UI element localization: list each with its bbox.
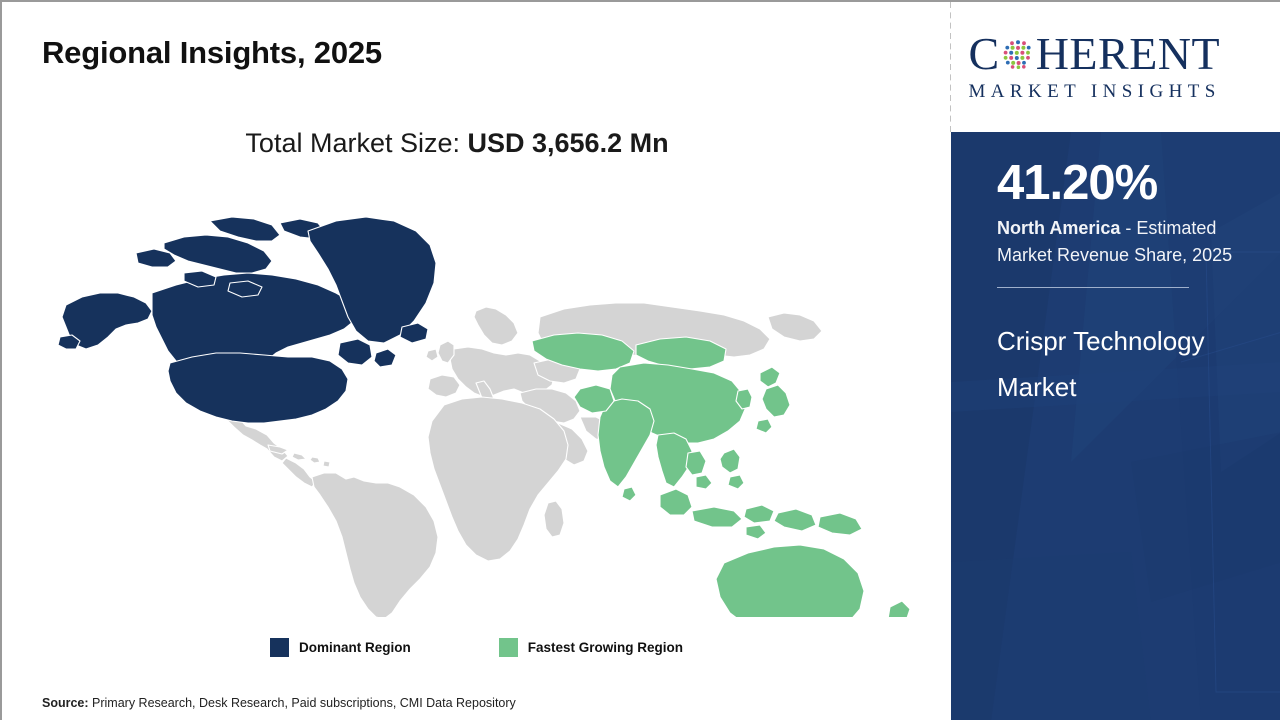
world-map-container [24,177,924,617]
stat-panel: 41.20% North America - Estimated Market … [951,132,1280,720]
logo-wordmark: C [969,31,1265,77]
total-market-size: Total Market Size: USD 3,656.2 Mn [2,128,912,159]
total-market-size-value: USD 3,656.2 Mn [468,128,669,158]
brand-logo: C [951,2,1280,132]
stat-divider-line [997,287,1189,288]
legend-label-dominant: Dominant Region [299,640,411,655]
square-swatch-icon [270,638,289,657]
map-region-asia-pacific [532,333,920,617]
legend-label-fastest-growing: Fastest Growing Region [528,640,683,655]
market-name: Crispr Technology Market [997,318,1262,410]
stat-region-name: North America [997,218,1120,238]
stat-caption: North America - Estimated Market Revenue… [997,215,1262,269]
main-content-area: Regional Insights, 2025 Total Market Siz… [2,2,951,720]
total-market-size-label: Total Market Size: [245,128,467,158]
legend-item-dominant: Dominant Region [270,638,411,657]
logo-subtitle: MARKET INSIGHTS [969,81,1265,103]
source-text: Primary Research, Desk Research, Paid su… [89,696,516,710]
square-swatch-icon [499,638,518,657]
source-note: Source: Primary Research, Desk Research,… [42,696,516,710]
logo-letter-c: C [969,31,1000,77]
infographic-root: Regional Insights, 2025 Total Market Siz… [0,0,1280,720]
map-legend: Dominant Region Fastest Growing Region [2,638,951,657]
stat-percent-value: 41.20% [997,154,1262,212]
page-title: Regional Insights, 2025 [42,35,382,71]
logo-inner: C [969,31,1265,103]
stat-panel-content: 41.20% North America - Estimated Market … [997,154,1262,410]
map-region-north-america [58,217,436,423]
source-label: Source: [42,696,89,710]
globe-dots-icon [1001,37,1035,71]
logo-wordmark-text: HERENT [1036,31,1220,77]
legend-item-fastest-growing: Fastest Growing Region [499,638,683,657]
world-map-svg [24,177,924,617]
